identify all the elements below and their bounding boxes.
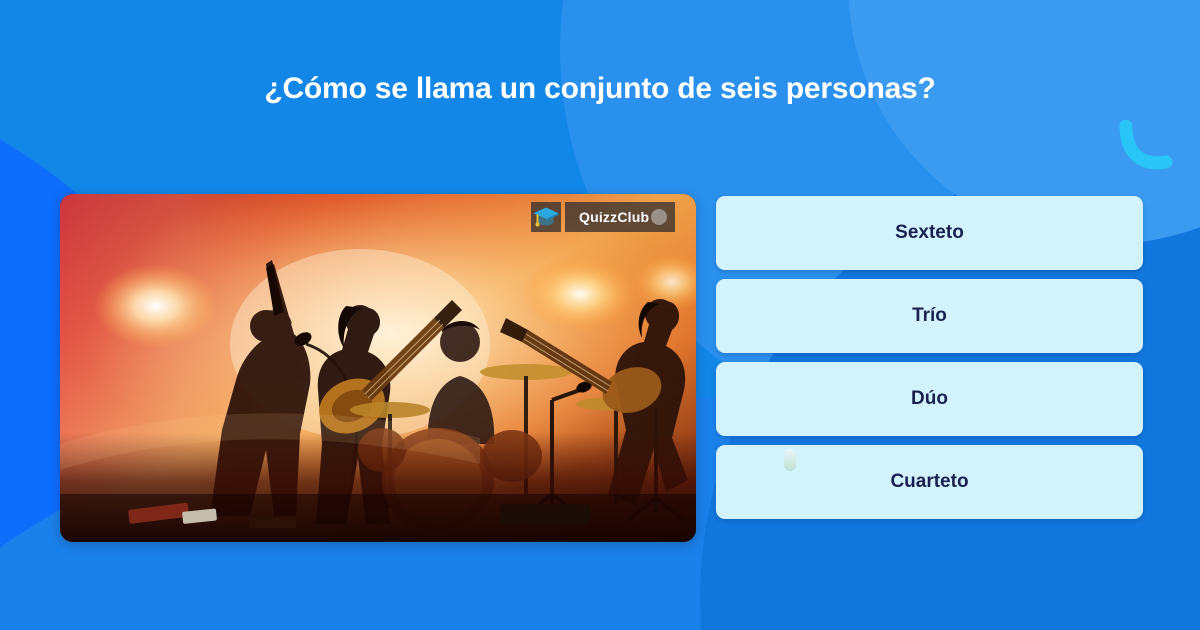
answer-option-1[interactable]: Sexteto [716, 196, 1143, 270]
watermark-brand: QuizzClub [579, 209, 649, 225]
watermark-badge: QuizzClub [531, 202, 675, 232]
watermark-brand-wrap: QuizzClub [565, 202, 675, 232]
quiz-card: ¿Cómo se llama un conjunto de seis perso… [0, 0, 1200, 630]
answer-option-3[interactable]: Dúo [716, 362, 1143, 436]
question-image: QuizzClub [60, 194, 696, 542]
answer-list: Sexteto Trío Dúo Cuarteto [716, 196, 1143, 519]
answer-option-4[interactable]: Cuarteto [716, 445, 1143, 519]
smile-arc-icon [1118, 120, 1174, 176]
answer-option-2[interactable]: Trío [716, 279, 1143, 353]
graduation-cap-icon [531, 202, 561, 232]
watermark-orb-icon [651, 209, 667, 225]
cursor-tail-marker [784, 449, 796, 471]
page-title: ¿Cómo se llama un conjunto de seis perso… [0, 72, 1200, 106]
